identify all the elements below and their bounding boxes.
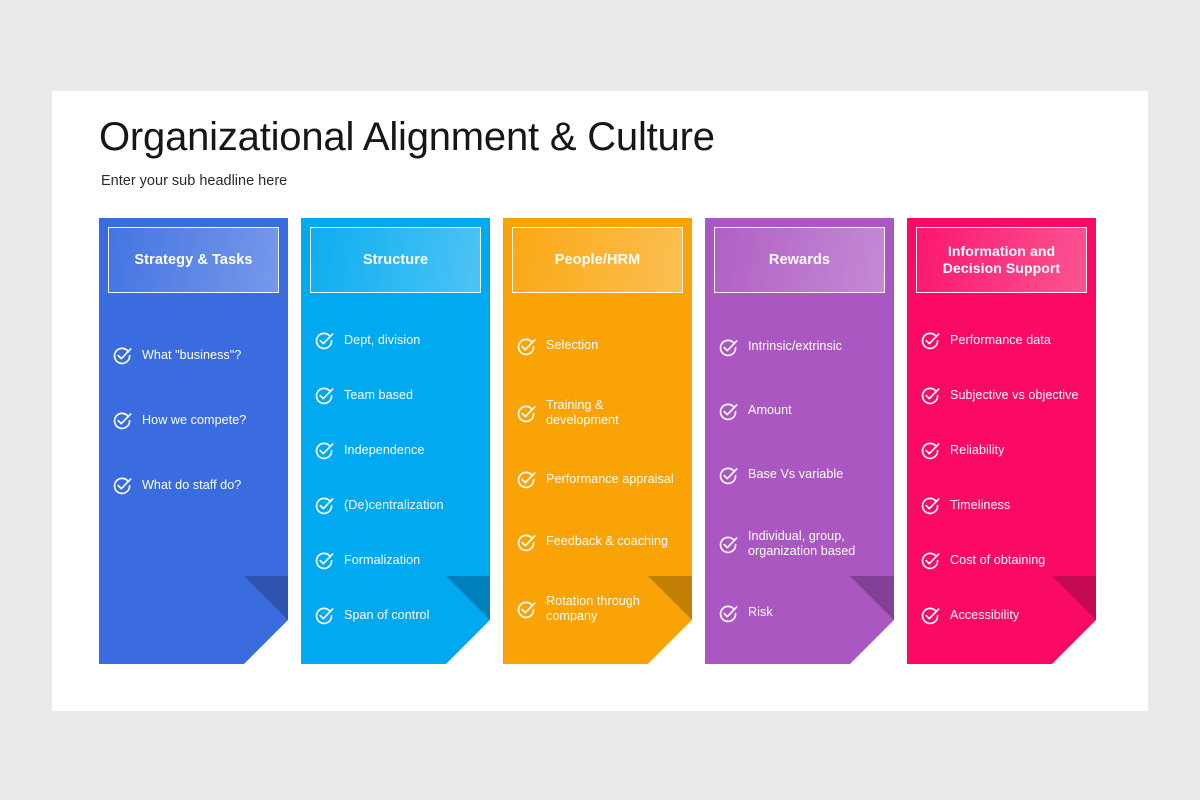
card-header[interactable]: People/HRM xyxy=(512,227,683,293)
list-item[interactable]: Accessibility xyxy=(920,588,1083,643)
list-item[interactable]: What "business"? xyxy=(112,323,275,388)
list-item-label: Cost of obtaining xyxy=(950,553,1045,568)
card-header-label: Structure xyxy=(363,251,428,269)
card-item-list: Performance dataSubjective vs objectiveR… xyxy=(916,293,1087,643)
column-card[interactable]: People/HRMSelectionTraining & developmen… xyxy=(503,218,692,664)
list-item-label: Formalization xyxy=(344,553,420,568)
list-item[interactable]: What do staff do? xyxy=(112,453,275,518)
list-item[interactable]: Span of control xyxy=(314,588,477,643)
check-circle-icon xyxy=(314,550,335,571)
check-circle-icon xyxy=(920,385,941,406)
check-circle-icon xyxy=(112,475,133,496)
card-header-label: Strategy & Tasks xyxy=(134,251,252,269)
list-item[interactable]: (De)centralization xyxy=(314,478,477,533)
list-item-label: Reliability xyxy=(950,443,1004,458)
check-circle-icon xyxy=(516,336,537,357)
list-item-label: What "business"? xyxy=(142,348,241,363)
check-circle-icon xyxy=(314,605,335,626)
page-title: Organizational Alignment & Culture xyxy=(99,115,1059,159)
list-item-label: Intrinsic/extrinsic xyxy=(748,339,842,354)
card-header[interactable]: Structure xyxy=(310,227,481,293)
check-circle-icon xyxy=(920,550,941,571)
column-card[interactable]: Strategy & TasksWhat "business"?How we c… xyxy=(99,218,288,664)
list-item-label: (De)centralization xyxy=(344,498,444,513)
list-item-label: Independence xyxy=(344,443,424,458)
column-card[interactable]: Information and Decision SupportPerforma… xyxy=(907,218,1096,664)
list-item-label: Team based xyxy=(344,388,413,403)
check-circle-icon xyxy=(718,465,739,486)
list-item-label: Risk xyxy=(748,605,773,620)
list-item-label: How we compete? xyxy=(142,413,246,428)
column-card[interactable]: StructureDept, divisionTeam basedIndepen… xyxy=(301,218,490,664)
list-item[interactable]: Risk xyxy=(718,581,881,645)
check-circle-icon xyxy=(314,440,335,461)
check-circle-icon xyxy=(920,605,941,626)
list-item[interactable]: Subjective vs objective xyxy=(920,368,1083,423)
list-item[interactable]: Performance data xyxy=(920,313,1083,368)
page-subtitle: Enter your sub headline here xyxy=(101,173,1059,189)
list-item[interactable]: Reliability xyxy=(920,423,1083,478)
list-item[interactable]: Timeliness xyxy=(920,478,1083,533)
list-item-label: What do staff do? xyxy=(142,478,241,493)
card-header[interactable]: Information and Decision Support xyxy=(916,227,1087,293)
list-item-label: Training & development xyxy=(546,398,679,429)
list-item[interactable]: Dept, division xyxy=(314,313,477,368)
list-item-label: Dept, division xyxy=(344,333,420,348)
list-item-label: Amount xyxy=(748,403,792,418)
list-item-label: Subjective vs objective xyxy=(950,388,1079,403)
list-item[interactable]: Performance appraisal xyxy=(516,449,679,511)
list-item-label: Base Vs variable xyxy=(748,467,843,482)
slide-surface: Organizational Alignment & Culture Enter… xyxy=(52,91,1148,711)
card-header-label: Rewards xyxy=(769,251,830,269)
list-item-label: Span of control xyxy=(344,608,429,623)
list-item[interactable]: Feedback & coaching xyxy=(516,511,679,573)
list-item[interactable]: Selection xyxy=(516,315,679,377)
list-item[interactable]: Amount xyxy=(718,379,881,443)
list-item-label: Performance data xyxy=(950,333,1051,348)
list-item[interactable]: Individual, group, organization based xyxy=(718,507,881,581)
list-item-label: Individual, group, organization based xyxy=(748,529,881,560)
card-item-list: What "business"?How we compete?What do s… xyxy=(108,293,279,653)
card-header[interactable]: Rewards xyxy=(714,227,885,293)
list-item[interactable]: How we compete? xyxy=(112,388,275,453)
check-circle-icon xyxy=(920,440,941,461)
check-circle-icon xyxy=(314,495,335,516)
list-item[interactable]: Formalization xyxy=(314,533,477,588)
card-item-list: Dept, divisionTeam basedIndependence(De)… xyxy=(310,293,481,643)
check-circle-icon xyxy=(112,410,133,431)
list-item[interactable]: Rotation through company xyxy=(516,573,679,645)
slide-header: Organizational Alignment & Culture Enter… xyxy=(99,115,1059,189)
card-header[interactable]: Strategy & Tasks xyxy=(108,227,279,293)
list-item[interactable]: Independence xyxy=(314,423,477,478)
check-circle-icon xyxy=(516,469,537,490)
check-circle-icon xyxy=(314,330,335,351)
check-circle-icon xyxy=(516,532,537,553)
list-item-label: Accessibility xyxy=(950,608,1019,623)
check-circle-icon xyxy=(718,534,739,555)
list-item[interactable]: Cost of obtaining xyxy=(920,533,1083,588)
check-circle-icon xyxy=(920,330,941,351)
card-header-label: People/HRM xyxy=(555,251,641,269)
list-item[interactable]: Training & development xyxy=(516,377,679,449)
list-item-label: Performance appraisal xyxy=(546,472,674,487)
check-circle-icon xyxy=(718,401,739,422)
column-card[interactable]: RewardsIntrinsic/extrinsicAmountBase Vs … xyxy=(705,218,894,664)
check-circle-icon xyxy=(516,599,537,620)
column-card-row: Strategy & TasksWhat "business"?How we c… xyxy=(99,218,1109,668)
check-circle-icon xyxy=(516,403,537,424)
card-header-label: Information and Decision Support xyxy=(925,243,1078,278)
card-item-list: SelectionTraining & developmentPerforman… xyxy=(512,293,683,645)
list-item-label: Feedback & coaching xyxy=(546,534,668,549)
screenshot-canvas: Organizational Alignment & Culture Enter… xyxy=(0,0,1200,800)
check-circle-icon xyxy=(718,603,739,624)
list-item[interactable]: Intrinsic/extrinsic xyxy=(718,315,881,379)
list-item-label: Rotation through company xyxy=(546,594,679,625)
list-item-label: Timeliness xyxy=(950,498,1010,513)
list-item-label: Selection xyxy=(546,338,598,353)
check-circle-icon xyxy=(718,337,739,358)
check-circle-icon xyxy=(112,345,133,366)
list-item[interactable]: Team based xyxy=(314,368,477,423)
card-item-list: Intrinsic/extrinsicAmountBase Vs variabl… xyxy=(714,293,885,645)
check-circle-icon xyxy=(920,495,941,516)
list-item[interactable]: Base Vs variable xyxy=(718,443,881,507)
check-circle-icon xyxy=(314,385,335,406)
